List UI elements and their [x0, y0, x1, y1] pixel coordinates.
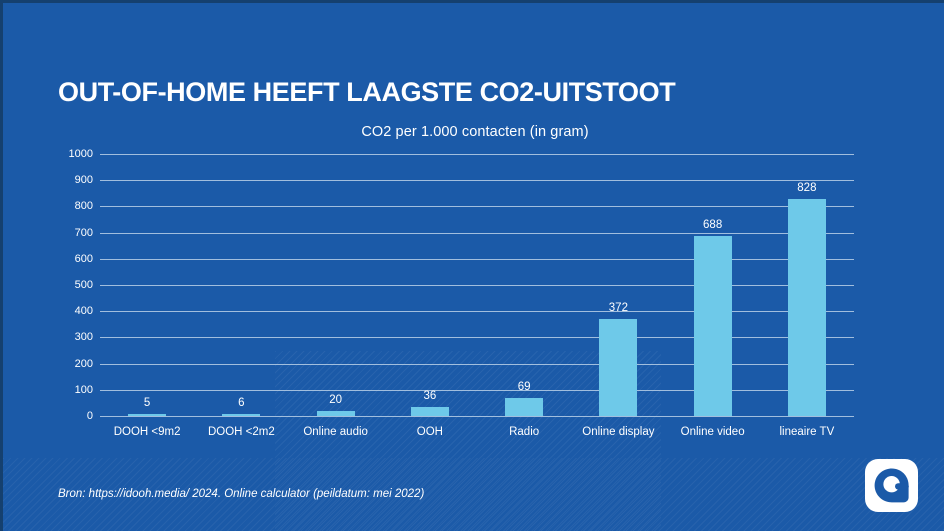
gridline	[100, 364, 854, 365]
gridline	[100, 311, 854, 312]
x-axis-category-label: DOOH <9m2	[114, 426, 181, 438]
bar-value-label: 372	[609, 302, 628, 314]
gridline	[100, 259, 854, 260]
x-axis-category-label: Online display	[582, 426, 654, 438]
chart-plot-area: 5DOOH <9m26DOOH <2m220Online audio36OOH6…	[100, 154, 854, 416]
y-axis-tick-label: 200	[45, 359, 93, 370]
bar-column: 36OOH	[411, 154, 449, 416]
gridline	[100, 416, 854, 417]
y-axis-tick-label: 800	[45, 201, 93, 212]
bar-column: 20Online audio	[317, 154, 355, 416]
bar-column: 69Radio	[505, 154, 543, 416]
bar-column: 828lineaire TV	[788, 154, 826, 416]
y-axis-tick-label: 1000	[45, 149, 93, 160]
x-axis-category-label: lineaire TV	[779, 426, 834, 438]
gridline	[100, 390, 854, 391]
bar-value-label: 5	[144, 397, 150, 409]
idooh-logo	[865, 459, 918, 512]
y-axis-tick-label: 900	[45, 175, 93, 186]
bar[interactable]	[599, 319, 637, 416]
bar-column: 372Online display	[599, 154, 637, 416]
gridline	[100, 180, 854, 181]
y-axis-tick-label: 400	[45, 306, 93, 317]
bar[interactable]	[505, 398, 543, 416]
y-axis-tick-label: 300	[45, 332, 93, 343]
y-axis-tick-label: 500	[45, 280, 93, 291]
bar-value-label: 6	[238, 397, 244, 409]
bar[interactable]	[788, 199, 826, 416]
y-axis-tick-label: 600	[45, 254, 93, 265]
x-axis-category-label: Online audio	[303, 426, 368, 438]
bar[interactable]	[128, 414, 166, 416]
source-note: Bron: https://idooh.media/ 2024. Online …	[58, 488, 424, 500]
bar[interactable]	[694, 236, 732, 416]
y-axis-tick-label: 100	[45, 385, 93, 396]
x-axis-category-label: OOH	[417, 426, 443, 438]
x-axis-category-label: DOOH <2m2	[208, 426, 275, 438]
bar[interactable]	[317, 411, 355, 416]
page-title: OUT-OF-HOME HEEFT LAAGSTE CO2-UITSTOOT	[58, 77, 675, 108]
bar-value-label: 20	[329, 394, 342, 406]
chart-subtitle: CO2 per 1.000 contacten (in gram)	[3, 124, 944, 140]
y-axis-tick-label: 0	[45, 411, 93, 422]
bar-value-label: 828	[797, 182, 816, 194]
gridline	[100, 285, 854, 286]
gridline	[100, 154, 854, 155]
gridline	[100, 337, 854, 338]
bar[interactable]	[222, 414, 260, 416]
x-axis-category-label: Online video	[681, 426, 745, 438]
bar-column: 5DOOH <9m2	[128, 154, 166, 416]
bar-column: 6DOOH <2m2	[222, 154, 260, 416]
bar[interactable]	[411, 407, 449, 416]
x-axis-category-label: Radio	[509, 426, 539, 438]
y-axis-tick-label: 700	[45, 228, 93, 239]
slide-canvas: OUT-OF-HOME HEEFT LAAGSTE CO2-UITSTOOT C…	[0, 0, 944, 531]
bar-value-label: 688	[703, 219, 722, 231]
gridline	[100, 206, 854, 207]
y-axis: 01002003004005006007008009001000	[45, 154, 93, 416]
bar-column: 688Online video	[694, 154, 732, 416]
bar-value-label: 69	[518, 381, 531, 393]
bar-value-label: 36	[423, 390, 436, 402]
gridline	[100, 233, 854, 234]
